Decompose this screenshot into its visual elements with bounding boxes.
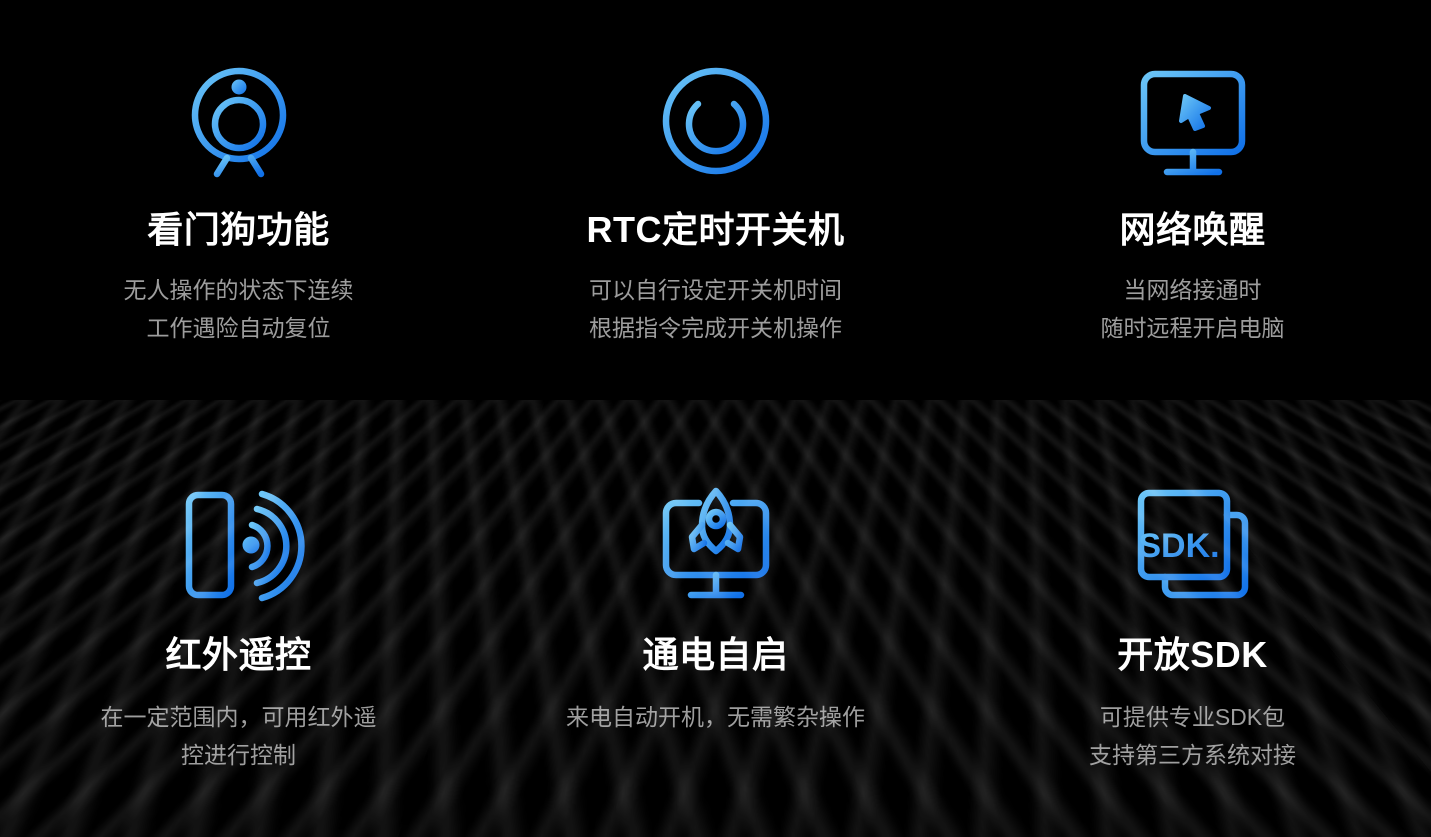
desc-line: 无人操作的状态下连续 bbox=[124, 272, 354, 309]
feature-description: 在一定范围内，可用红外遥 控进行控制 bbox=[101, 699, 377, 774]
desc-line: 控进行控制 bbox=[101, 737, 377, 774]
desc-line: 来电自动开机，无需繁杂操作 bbox=[566, 699, 865, 736]
remote-control-signal-icon bbox=[173, 481, 305, 607]
feature-description: 可以自行设定开关机时间 根据指令完成开关机操作 bbox=[589, 272, 842, 347]
feature-description: 来电自动开机，无需繁杂操作 bbox=[566, 699, 865, 736]
monitor-rocket-icon bbox=[650, 481, 782, 607]
feature-description: 当网络接通时 随时远程开启电脑 bbox=[1101, 272, 1285, 347]
power-button-icon bbox=[650, 58, 782, 184]
feature-card-watchdog: 看门狗功能 无人操作的状态下连续 工作遇险自动复位 bbox=[0, 0, 477, 418]
feature-description: 可提供专业SDK包 支持第三方系统对接 bbox=[1089, 699, 1296, 774]
feature-banner: 看门狗功能 无人操作的状态下连续 工作遇险自动复位 RTC定 bbox=[0, 0, 1431, 837]
monitor-cursor-icon bbox=[1127, 58, 1259, 184]
feature-description: 无人操作的状态下连续 工作遇险自动复位 bbox=[124, 272, 354, 347]
desc-line: 可以自行设定开关机时间 bbox=[589, 272, 842, 309]
feature-title: 网络唤醒 bbox=[1119, 210, 1265, 250]
sdk-icon-label: SDK. bbox=[1138, 527, 1219, 565]
feature-title: RTC定时开关机 bbox=[587, 210, 845, 250]
desc-line: 可提供专业SDK包 bbox=[1089, 699, 1296, 736]
feature-title: 看门狗功能 bbox=[147, 210, 330, 250]
sdk-windows-icon: SDK. bbox=[1127, 481, 1259, 607]
feature-grid: 看门狗功能 无人操作的状态下连续 工作遇险自动复位 RTC定 bbox=[0, 0, 1431, 837]
feature-card-ir-remote: 红外遥控 在一定范围内，可用红外遥 控进行控制 bbox=[0, 418, 477, 837]
webcam-watchdog-icon bbox=[173, 58, 305, 184]
desc-line: 工作遇险自动复位 bbox=[124, 310, 354, 347]
desc-line: 根据指令完成开关机操作 bbox=[589, 310, 842, 347]
desc-line: 随时远程开启电脑 bbox=[1101, 310, 1285, 347]
desc-line: 在一定范围内，可用红外遥 bbox=[101, 699, 377, 736]
feature-card-rtc-timer: RTC定时开关机 可以自行设定开关机时间 根据指令完成开关机操作 bbox=[477, 0, 954, 418]
desc-line: 支持第三方系统对接 bbox=[1089, 737, 1296, 774]
feature-card-wake-on-lan: 网络唤醒 当网络接通时 随时远程开启电脑 bbox=[954, 0, 1431, 418]
desc-line: 当网络接通时 bbox=[1101, 272, 1285, 309]
feature-title: 红外遥控 bbox=[165, 635, 311, 675]
feature-title: 通电自启 bbox=[642, 635, 788, 675]
feature-card-open-sdk: SDK. 开放SDK 可提供专业SDK包 支持第三方系统对接 bbox=[954, 418, 1431, 837]
feature-card-auto-power-on: 通电自启 来电自动开机，无需繁杂操作 bbox=[477, 418, 954, 837]
feature-title: 开放SDK bbox=[1117, 635, 1268, 675]
